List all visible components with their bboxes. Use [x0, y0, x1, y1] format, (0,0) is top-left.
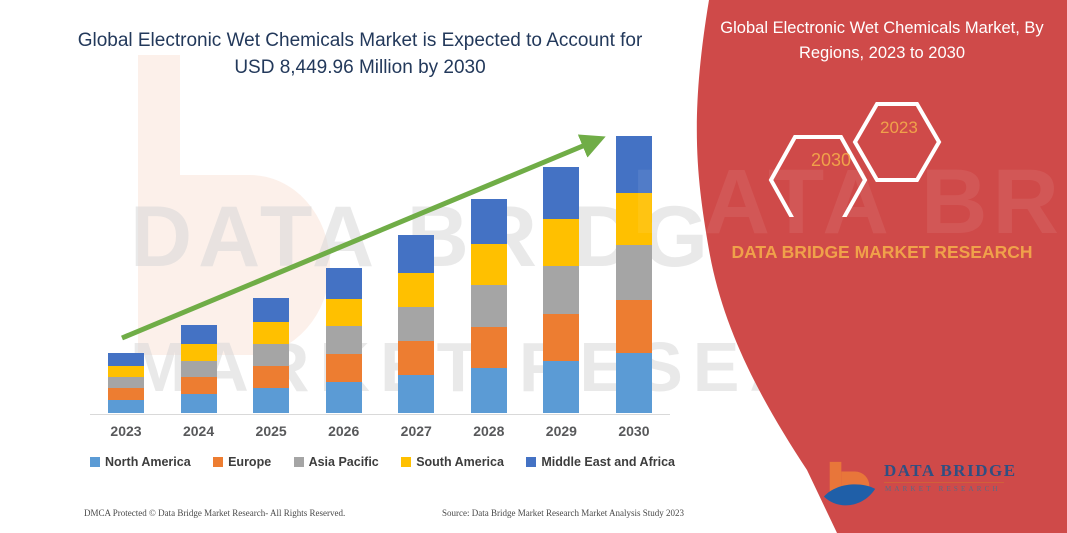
bar-segment — [616, 300, 652, 353]
legend-swatch-icon — [90, 457, 100, 467]
bar-segment — [108, 400, 144, 413]
bar-segment — [108, 366, 144, 377]
bar-stack — [471, 199, 507, 413]
bar-segment — [398, 375, 434, 413]
logo-divider — [884, 482, 1004, 483]
x-axis-labels: 20232024202520262027202820292030 — [90, 423, 670, 439]
bar-column — [308, 110, 380, 413]
brand-name: DATA BRIDGE MARKET RESEARCH — [707, 240, 1057, 265]
bar-column — [525, 110, 597, 413]
x-axis-label: 2025 — [235, 423, 307, 439]
bar-segment — [616, 136, 652, 193]
legend-item[interactable]: Asia Pacific — [294, 455, 379, 469]
legend-swatch-icon — [401, 457, 411, 467]
bar-segment — [108, 377, 144, 388]
infographic-canvas: DATA BRIDGE MARKET RESEARCH Global Elect… — [0, 0, 1067, 533]
footer-source: Source: Data Bridge Market Research Mark… — [442, 508, 684, 518]
bar-segment — [108, 388, 144, 400]
x-axis-label: 2030 — [598, 423, 670, 439]
legend-label: Asia Pacific — [309, 455, 379, 469]
logo-wordmark: DATA BRIDGE — [884, 461, 1017, 481]
bar-segment — [616, 193, 652, 245]
legend-label: Europe — [228, 455, 271, 469]
bar-segment — [253, 366, 289, 388]
bar-segment — [616, 353, 652, 413]
legend-item[interactable]: North America — [90, 455, 191, 469]
bar-segment — [543, 167, 579, 219]
bar-segment — [471, 244, 507, 285]
bar-segment — [181, 377, 217, 394]
bar-segment — [253, 298, 289, 322]
bar-segment — [543, 266, 579, 314]
bar-stack — [181, 325, 217, 413]
bar-segment — [253, 322, 289, 344]
logo-tagline: MARKET RESEARCH — [885, 485, 1001, 493]
x-axis-label: 2024 — [163, 423, 235, 439]
chart-panel: DATA BRIDGE MARKET RESEARCH Global Elect… — [0, 0, 720, 533]
legend-label: Middle East and Africa — [541, 455, 675, 469]
bar-segment — [326, 354, 362, 382]
footer-copyright: DMCA Protected © Data Bridge Market Rese… — [84, 508, 345, 518]
right-panel-content: DATA BRIDGE Global Electronic Wet Chemic… — [687, 0, 1067, 533]
page-title: Global Electronic Wet Chemicals Market i… — [60, 28, 660, 82]
bar-stack — [253, 298, 289, 413]
bar-column — [380, 110, 452, 413]
bar-column — [598, 110, 670, 413]
bar-column — [163, 110, 235, 413]
bar-segment — [543, 361, 579, 413]
chart-legend: North AmericaEuropeAsia PacificSouth Ame… — [90, 455, 675, 469]
legend-swatch-icon — [294, 457, 304, 467]
bar-column — [453, 110, 525, 413]
bar-segment — [181, 394, 217, 413]
x-axis-label: 2023 — [90, 423, 162, 439]
legend-item[interactable]: South America — [401, 455, 504, 469]
x-axis-label: 2028 — [453, 423, 525, 439]
bar-segment — [326, 299, 362, 326]
bar-segment — [471, 285, 507, 327]
bar-stack — [398, 235, 434, 413]
bar-group — [90, 110, 670, 413]
bar-segment — [543, 219, 579, 266]
bar-segment — [471, 368, 507, 413]
bar-segment — [108, 353, 144, 366]
bar-segment — [326, 382, 362, 413]
bar-segment — [398, 341, 434, 375]
x-axis-label: 2029 — [525, 423, 597, 439]
bar-stack — [616, 136, 652, 413]
hexagon-outlines-icon — [757, 92, 1007, 217]
footer: DMCA Protected © Data Bridge Market Rese… — [84, 508, 684, 518]
hexagon-group: 2030 2023 — [757, 92, 1007, 217]
bar-segment — [471, 327, 507, 368]
legend-swatch-icon — [526, 457, 536, 467]
bar-column — [90, 110, 162, 413]
data-bridge-logo: DATA BRIDGE MARKET RESEARCH — [822, 455, 1037, 515]
chart-plot-area — [90, 110, 670, 415]
bar-segment — [181, 361, 217, 377]
bar-segment — [616, 245, 652, 300]
right-panel-title: Global Electronic Wet Chemicals Market, … — [707, 16, 1057, 66]
x-axis-line — [90, 414, 670, 415]
x-axis-label: 2026 — [308, 423, 380, 439]
bar-stack — [543, 167, 579, 413]
legend-label: South America — [416, 455, 504, 469]
bar-segment — [398, 273, 434, 307]
bar-segment — [326, 326, 362, 354]
x-axis-label: 2027 — [380, 423, 452, 439]
bar-segment — [471, 199, 507, 244]
legend-item[interactable]: Europe — [213, 455, 271, 469]
bar-segment — [398, 235, 434, 273]
bar-segment — [326, 268, 362, 299]
legend-item[interactable]: Middle East and Africa — [526, 455, 675, 469]
legend-swatch-icon — [213, 457, 223, 467]
bar-segment — [181, 325, 217, 344]
bar-stack — [326, 268, 362, 413]
bar-segment — [181, 344, 217, 361]
bar-segment — [543, 314, 579, 361]
logo-mark-icon — [822, 457, 880, 515]
bar-column — [235, 110, 307, 413]
bar-segment — [398, 307, 434, 341]
bar-segment — [253, 344, 289, 366]
bar-stack — [108, 353, 144, 413]
bar-segment — [253, 388, 289, 413]
legend-label: North America — [105, 455, 191, 469]
